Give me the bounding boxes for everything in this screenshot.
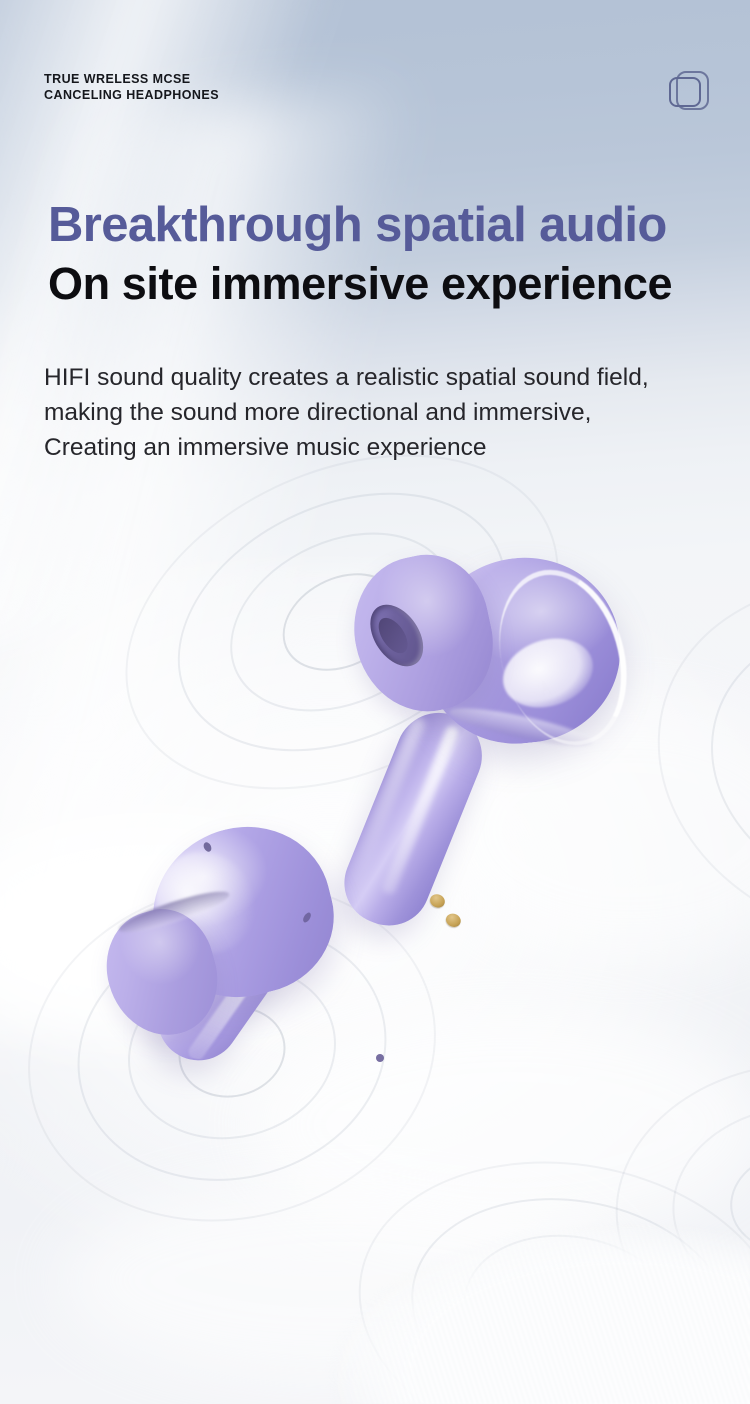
headline-primary-line: On site immersive experience bbox=[48, 256, 728, 312]
right-earbud-nozzle-opening bbox=[359, 595, 434, 676]
charging-contact-icon bbox=[444, 911, 463, 929]
white-fur-edge bbox=[280, 1144, 750, 1404]
body-copy-line1: HIFI sound quality creates a realistic s… bbox=[44, 360, 734, 395]
body-copy: HIFI sound quality creates a realistic s… bbox=[44, 360, 734, 465]
headline-accent-line: Breakthrough spatial audio bbox=[48, 196, 728, 254]
product-poster: TRUE WRELESS MCSE CANCELING HEADPHONES B… bbox=[0, 0, 750, 1404]
body-copy-line2: making the sound more directional and im… bbox=[44, 395, 734, 430]
headline-block: Breakthrough spatial audio On site immer… bbox=[48, 196, 728, 312]
left-earbud bbox=[108, 818, 438, 1118]
logo-square-front bbox=[669, 77, 701, 107]
brand-logo-icon bbox=[668, 68, 712, 112]
brand-tagline: TRUE WRELESS MCSE CANCELING HEADPHONES bbox=[44, 72, 219, 103]
left-earbud-stem-dot bbox=[376, 1054, 384, 1062]
body-copy-line3: Creating an immersive music experience bbox=[44, 430, 734, 465]
brand-tagline-line1: TRUE WRELESS MCSE bbox=[44, 72, 219, 88]
brand-tagline-line2: CANCELING HEADPHONES bbox=[44, 88, 219, 104]
